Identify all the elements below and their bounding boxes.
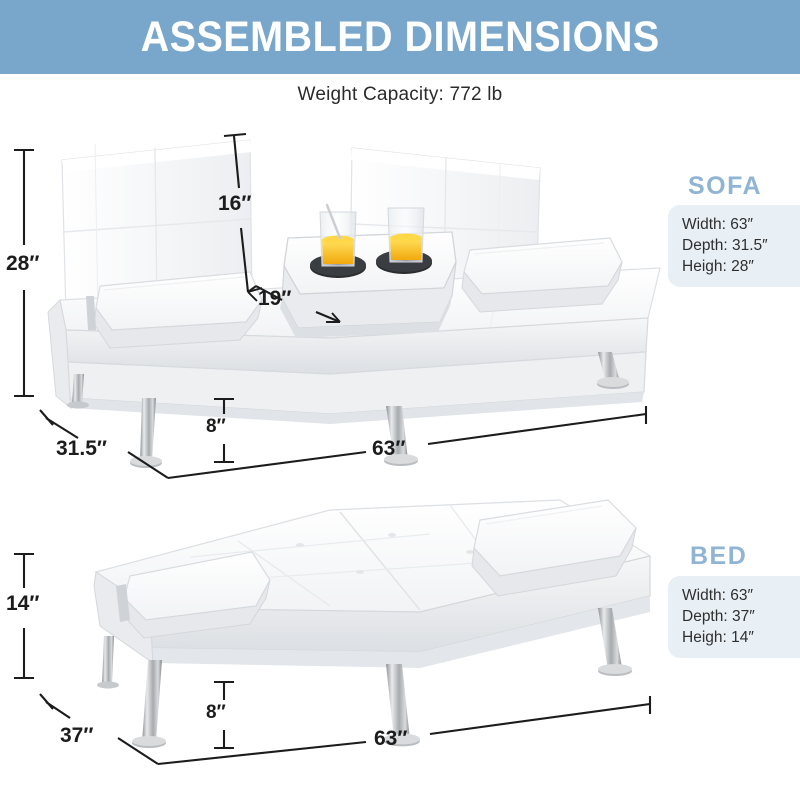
bed-width-label: 63″ [374,727,407,751]
bed-leg-height-label: 8″ [206,702,226,724]
bed-spec-depth: Depth: 37″ [682,606,800,627]
bed-depth-label: 37″ [60,724,93,748]
sofa-spec-width: Width: 63″ [682,214,800,235]
sofa-illustration [48,140,660,468]
bed-legs [97,608,632,748]
dimension-lines [0,0,800,800]
sofa-leg-height-label: 8″ [206,416,226,438]
sofa-spec-height: Heigh: 28″ [682,256,800,277]
sofa-backrest-label: 16″ [218,192,251,216]
infographic-page: ASSEMBLED DIMENSIONS Weight Capacity: 77… [0,0,800,800]
bed-spec-heading: BED [690,542,747,571]
sofa-width-label: 63″ [372,437,405,461]
bed-spec-height: Heigh: 14″ [682,627,800,648]
bed-spec-box: Width: 63″ Depth: 37″ Heigh: 14″ [668,576,800,658]
sofa-height-label: 28″ [6,252,39,276]
sofa-seat-depth-label: 19″ [258,287,291,311]
sofa-spec-depth: Depth: 31.5″ [682,235,800,256]
sofa-spec-heading: SOFA [688,172,762,201]
bed-illustration [94,500,650,748]
sofa-spec-box: Width: 63″ Depth: 31.5″ Heigh: 28″ [668,205,800,287]
sofa-depth-label: 31.5″ [56,437,107,461]
juice-glass-left [320,205,356,266]
header-banner: ASSEMBLED DIMENSIONS [0,0,800,74]
sofa-legs [67,352,629,468]
product-illustrations [0,0,800,800]
bed-spec-width: Width: 63″ [682,585,800,606]
juice-glass-right [388,208,424,262]
weight-capacity-text: Weight Capacity: 772 lb [0,84,800,106]
bed-height-label: 14″ [6,592,39,616]
page-title: ASSEMBLED DIMENSIONS [140,13,659,62]
